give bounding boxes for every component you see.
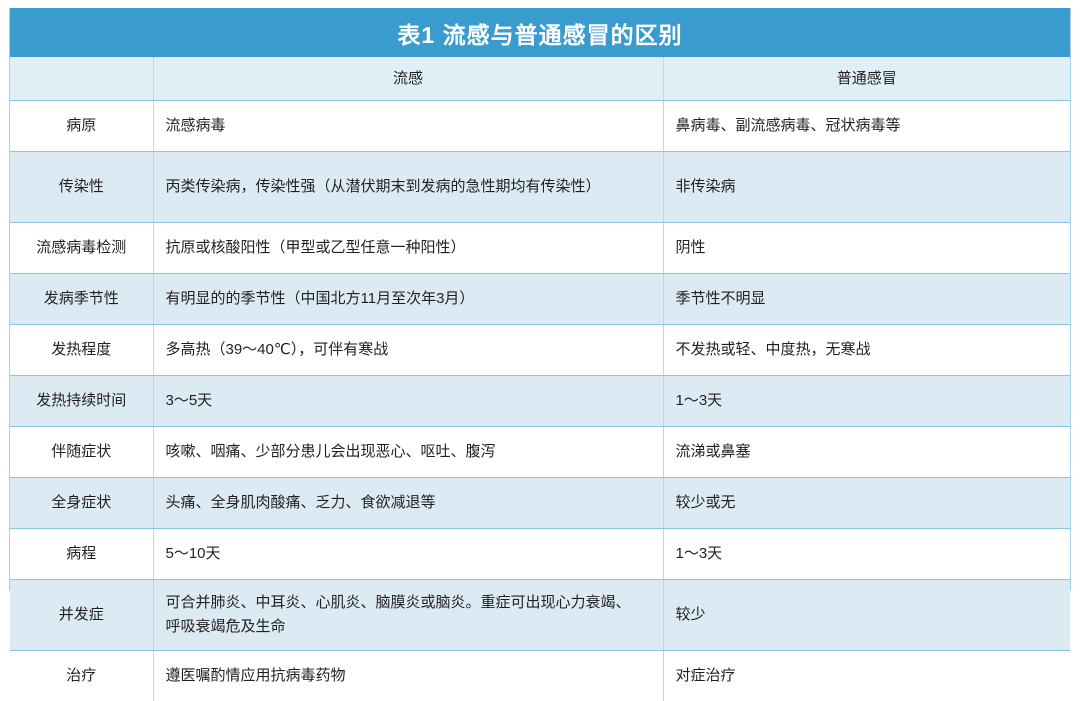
table-row: 治疗 遵医嘱酌情应用抗病毒药物 对症治疗 (10, 651, 1070, 701)
table-row: 传染性 丙类传染病，传染性强（从潜伏期末到发病的急性期均有传染性） 非传染病 (10, 152, 1070, 223)
table-row: 流感病毒检测 抗原或核酸阳性（甲型或乙型任意一种阳性） 阴性 (10, 223, 1070, 274)
table-header-row: 流感 普通感冒 (10, 57, 1070, 101)
cell-text-line-1: 可合并肺炎、中耳炎、心肌炎、脑膜炎或脑炎。重症可出现心力衰竭、 (166, 591, 651, 615)
cell-cold-treatment: 对症治疗 (663, 651, 1070, 701)
table-row: 发热持续时间 3～5天 1～3天 (10, 376, 1070, 427)
cell-flu-accompanying-symptoms: 咳嗽、咽痛、少部分患儿会出现恶心、呕吐、腹泻 (153, 427, 663, 478)
row-label-contagiousness: 传染性 (10, 152, 153, 223)
row-label-pathogen: 病原 (10, 101, 153, 152)
cell-text-line-2: 呼吸衰竭危及生命 (166, 615, 651, 639)
table-head: 流感 普通感冒 (10, 57, 1070, 101)
cell-cold-complications: 较少 (663, 580, 1070, 651)
column-header-flu: 流感 (153, 57, 663, 101)
cell-flu-systemic-symptoms: 头痛、全身肌肉酸痛、乏力、食欲减退等 (153, 478, 663, 529)
cell-flu-contagiousness: 丙类传染病，传染性强（从潜伏期末到发病的急性期均有传染性） (153, 152, 663, 223)
cell-cold-accompanying-symptoms: 流涕或鼻塞 (663, 427, 1070, 478)
table-title: 表1 流感与普通感冒的区别 (10, 8, 1070, 57)
cell-flu-fever-duration: 3～5天 (153, 376, 663, 427)
row-label-systemic-symptoms: 全身症状 (10, 478, 153, 529)
cell-flu-virus-test: 抗原或核酸阳性（甲型或乙型任意一种阳性） (153, 223, 663, 274)
cell-cold-fever-degree: 不发热或轻、中度热，无寒战 (663, 325, 1070, 376)
cell-cold-seasonality: 季节性不明显 (663, 274, 1070, 325)
column-header-blank (10, 57, 153, 101)
row-label-seasonality: 发病季节性 (10, 274, 153, 325)
cell-cold-contagiousness: 非传染病 (663, 152, 1070, 223)
table-body: 病原 流感病毒 鼻病毒、副流感病毒、冠状病毒等 传染性 丙类传染病，传染性强（从… (10, 101, 1070, 701)
comparison-table-container: 表1 流感与普通感冒的区别 流感 普通感冒 病原 流感病毒 鼻病毒、副流感病毒、… (9, 8, 1071, 591)
row-label-complications: 并发症 (10, 580, 153, 651)
table-row: 病原 流感病毒 鼻病毒、副流感病毒、冠状病毒等 (10, 101, 1070, 152)
row-label-treatment: 治疗 (10, 651, 153, 701)
comparison-table: 流感 普通感冒 病原 流感病毒 鼻病毒、副流感病毒、冠状病毒等 传染性 丙类传染… (10, 57, 1070, 701)
cell-cold-pathogen: 鼻病毒、副流感病毒、冠状病毒等 (663, 101, 1070, 152)
cell-flu-fever-degree: 多高热（39～40℃），可伴有寒战 (153, 325, 663, 376)
table-row: 病程 5～10天 1～3天 (10, 529, 1070, 580)
row-label-accompanying-symptoms: 伴随症状 (10, 427, 153, 478)
cell-flu-course: 5～10天 (153, 529, 663, 580)
table-row: 发热程度 多高热（39～40℃），可伴有寒战 不发热或轻、中度热，无寒战 (10, 325, 1070, 376)
table-row: 发病季节性 有明显的的季节性（中国北方11月至次年3月） 季节性不明显 (10, 274, 1070, 325)
cell-flu-pathogen: 流感病毒 (153, 101, 663, 152)
row-label-course: 病程 (10, 529, 153, 580)
page-root: 表1 流感与普通感冒的区别 流感 普通感冒 病原 流感病毒 鼻病毒、副流感病毒、… (0, 0, 1080, 600)
table-row: 全身症状 头痛、全身肌肉酸痛、乏力、食欲减退等 较少或无 (10, 478, 1070, 529)
cell-cold-virus-test: 阴性 (663, 223, 1070, 274)
cell-cold-systemic-symptoms: 较少或无 (663, 478, 1070, 529)
cell-cold-course: 1～3天 (663, 529, 1070, 580)
cell-cold-fever-duration: 1～3天 (663, 376, 1070, 427)
row-label-virus-test: 流感病毒检测 (10, 223, 153, 274)
cell-flu-treatment: 遵医嘱酌情应用抗病毒药物 (153, 651, 663, 701)
cell-flu-seasonality: 有明显的的季节性（中国北方11月至次年3月） (153, 274, 663, 325)
table-row: 伴随症状 咳嗽、咽痛、少部分患儿会出现恶心、呕吐、腹泻 流涕或鼻塞 (10, 427, 1070, 478)
row-label-fever-duration: 发热持续时间 (10, 376, 153, 427)
table-row: 并发症 可合并肺炎、中耳炎、心肌炎、脑膜炎或脑炎。重症可出现心力衰竭、 呼吸衰竭… (10, 580, 1070, 651)
row-label-fever-degree: 发热程度 (10, 325, 153, 376)
column-header-cold: 普通感冒 (663, 57, 1070, 101)
cell-flu-complications: 可合并肺炎、中耳炎、心肌炎、脑膜炎或脑炎。重症可出现心力衰竭、 呼吸衰竭危及生命 (153, 580, 663, 651)
